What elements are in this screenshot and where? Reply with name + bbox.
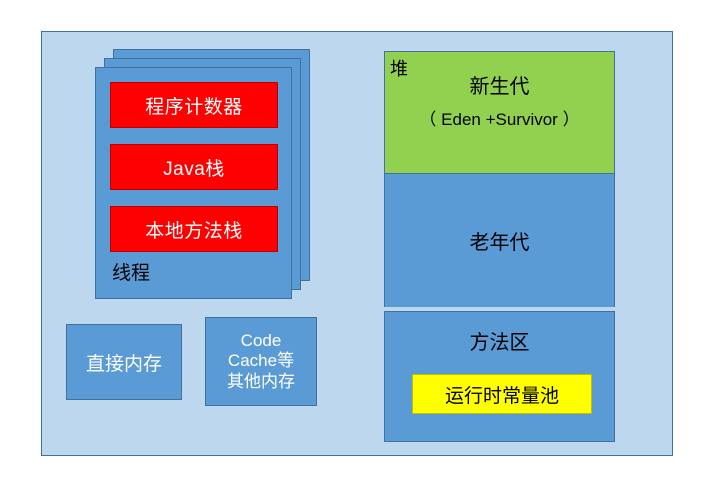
old-generation-label: 老年代 [470, 226, 530, 255]
code-cache-box: Code Cache等 其他内存 [205, 317, 317, 406]
heap-box: 堆 新生代 （ Eden +Survivor ） 老年代 [384, 51, 615, 307]
thread-stack-group: 程序计数器 Java栈 本地方法栈 线程 [95, 49, 310, 299]
native-method-stack-label: 本地方法栈 [145, 216, 243, 243]
direct-memory-box: 直接内存 [66, 324, 182, 400]
java-stack-box: Java栈 [110, 144, 278, 190]
jvm-memory-diagram: 程序计数器 Java栈 本地方法栈 线程 堆 新生代 （ Eden +Survi… [0, 0, 706, 494]
code-cache-line-2: Cache等 [228, 351, 294, 371]
program-counter-label: 程序计数器 [145, 92, 243, 119]
thread-group-label: 线程 [112, 258, 150, 285]
program-counter-box: 程序计数器 [110, 82, 278, 128]
young-generation-box: 新生代 （ Eden +Survivor ） [385, 52, 614, 174]
old-generation-box: 老年代 [385, 174, 614, 307]
runtime-constant-pool-label: 运行时常量池 [445, 381, 559, 408]
native-method-stack-box: 本地方法栈 [110, 206, 278, 252]
jvm-memory-container: 程序计数器 Java栈 本地方法栈 线程 堆 新生代 （ Eden +Survi… [41, 31, 673, 456]
java-stack-label: Java栈 [163, 154, 225, 181]
thread-card-front: 程序计数器 Java栈 本地方法栈 线程 [95, 67, 292, 299]
heap-label: 堆 [390, 55, 408, 81]
code-cache-line-3: 其他内存 [227, 372, 295, 392]
runtime-constant-pool-box: 运行时常量池 [412, 374, 592, 414]
code-cache-line-1: Code [241, 331, 282, 351]
method-area-label: 方法区 [385, 326, 614, 355]
method-area-box: 方法区 运行时常量池 [384, 311, 615, 442]
direct-memory-label: 直接内存 [86, 349, 162, 376]
young-generation-detail: （ Eden +Survivor ） [419, 105, 579, 130]
young-generation-label: 新生代 [470, 70, 530, 99]
